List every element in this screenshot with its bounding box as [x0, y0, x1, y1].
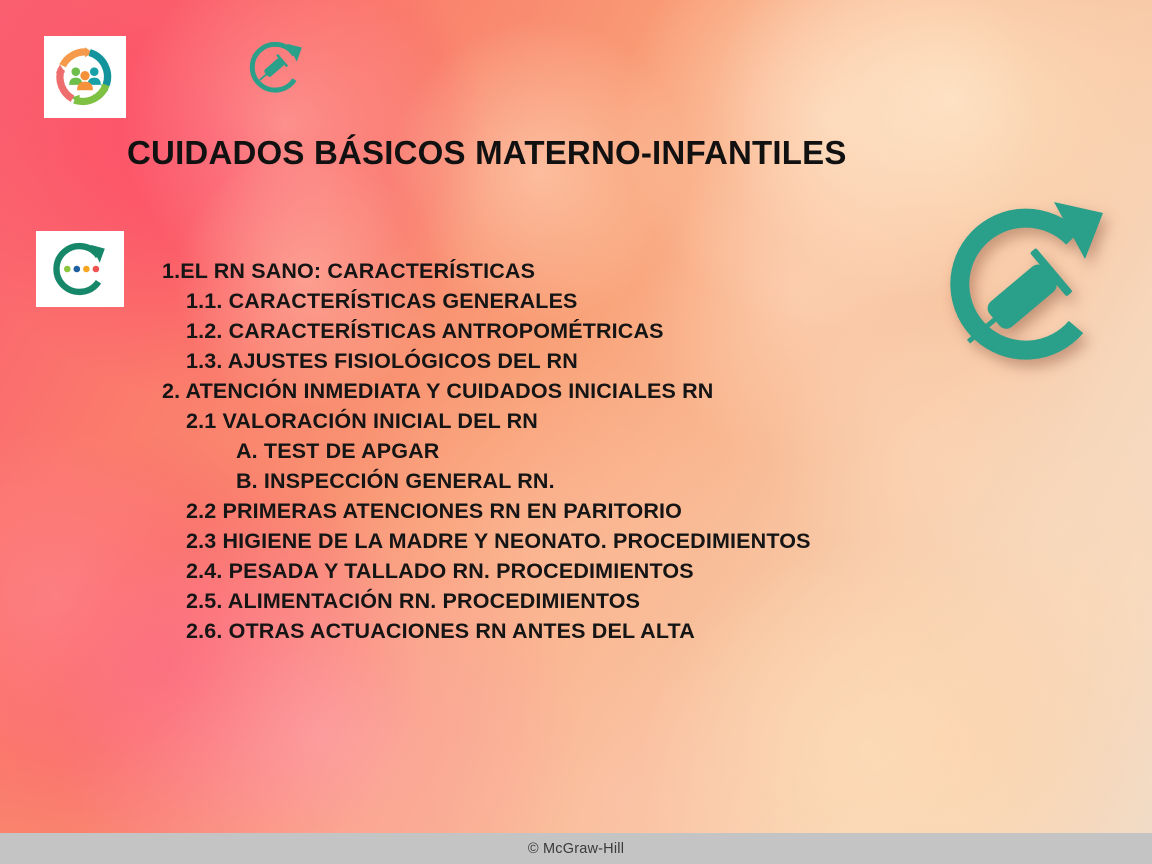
publisher-logo-people	[44, 36, 126, 118]
outline-item: 2.5. ALIMENTACIÓN RN. PROCEDIMIENTOS	[0, 586, 1152, 616]
outline-item: B. INSPECCIÓN GENERAL RN.	[0, 466, 1152, 496]
outline-item: 2.2 PRIMERAS ATENCIONES RN EN PARITORIO	[0, 496, 1152, 526]
outline-item: 1.2. CARACTERÍSTICAS ANTROPOMÉTRICAS	[0, 316, 1152, 346]
outline-item: A. TEST DE APGAR	[0, 436, 1152, 466]
outline-item: 2.1 VALORACIÓN INICIAL DEL RN	[0, 406, 1152, 436]
outline-item: 2.6. OTRAS ACTUACIONES RN ANTES DEL ALTA	[0, 616, 1152, 646]
page-title: CUIDADOS BÁSICOS MATERNO-INFANTILES	[127, 134, 847, 172]
footer-bar: © McGraw-Hill	[0, 833, 1152, 864]
outline-item: 2.4. PESADA Y TALLADO RN. PROCEDIMIENTOS	[0, 556, 1152, 586]
people-cycle-icon	[52, 44, 118, 110]
outline-item: 1.3. AJUSTES FISIOLÓGICOS DEL RN	[0, 346, 1152, 376]
outline-item: 2.3 HIGIENE DE LA MADRE Y NEONATO. PROCE…	[0, 526, 1152, 556]
presentation-slide: CUIDADOS BÁSICOS MATERNO-INFANTILES 1.EL…	[0, 0, 1152, 864]
outline-list: 1.EL RN SANO: CARACTERÍSTICAS 1.1. CARAC…	[0, 256, 1152, 646]
syringe-cycle-icon-small	[240, 36, 308, 96]
syringe-cycle-icon	[240, 36, 308, 96]
copyright-text: © McGraw-Hill	[528, 841, 624, 857]
outline-item: 1.EL RN SANO: CARACTERÍSTICAS	[0, 256, 1152, 286]
outline-item: 1.1. CARACTERÍSTICAS GENERALES	[0, 286, 1152, 316]
outline-item: 2. ATENCIÓN INMEDIATA Y CUIDADOS INICIAL…	[0, 376, 1152, 406]
